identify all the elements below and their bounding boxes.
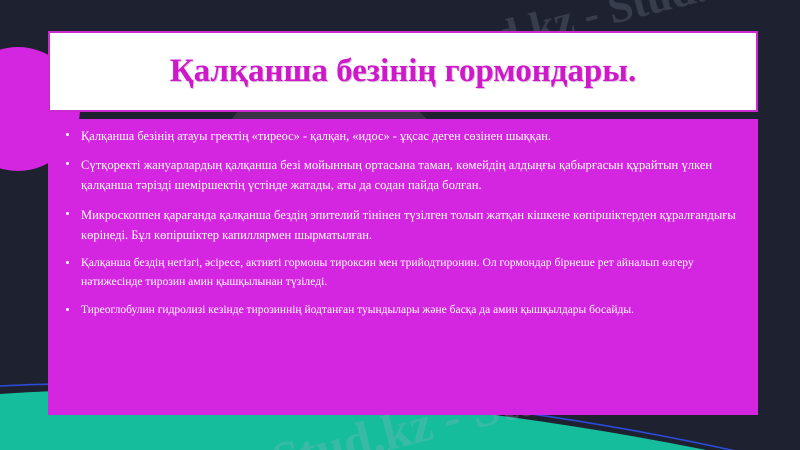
slide-title: Қалқанша безінің гормондары. [170, 53, 637, 89]
bullet-text: Сүтқоректі жануарлардың қалқанша безі мо… [81, 158, 712, 192]
bullet-dot-icon [66, 212, 69, 215]
bullet-text: Тиреоглобулин гидролизі кезінде тирозинн… [81, 304, 634, 316]
bullet-text: Микроскоппен қарағанда қалқанша бездің э… [81, 208, 736, 242]
bullet-list: Қалқанша безінің атауы гректің «тиреос» … [62, 126, 744, 320]
bullet-item: Қалқанша бездің негізгі, әсіресе, активт… [62, 254, 744, 292]
leaf-shape-icon [209, 425, 333, 450]
bullet-item: Сүтқоректі жануарлардың қалқанша безі мо… [62, 155, 744, 196]
slide-body-card: Қалқанша безінің атауы гректің «тиреос» … [48, 119, 758, 415]
bullet-dot-icon [66, 162, 69, 165]
bullet-dot-icon [66, 133, 69, 136]
bullet-item: Тиреоглобулин гидролизі кезінде тирозинн… [62, 301, 744, 320]
presentation-slide: Stud.kz - Stud. Stud.kz - S ud.kz Stud.k… [0, 0, 800, 450]
bullet-text: Қалқанша безінің атауы гректің «тиреос» … [81, 129, 551, 143]
bullet-dot-icon [66, 261, 69, 264]
leaf-shape-secondary-icon [224, 432, 322, 450]
bullet-item: Микроскоппен қарағанда қалқанша бездің э… [62, 205, 744, 246]
bullet-dot-icon [66, 308, 69, 311]
bullet-item: Қалқанша безінің атауы гректің «тиреос» … [62, 126, 744, 146]
bullet-text: Қалқанша бездің негізгі, әсіресе, активт… [81, 256, 694, 288]
slide-title-card: Қалқанша безінің гормондары. [48, 31, 758, 112]
